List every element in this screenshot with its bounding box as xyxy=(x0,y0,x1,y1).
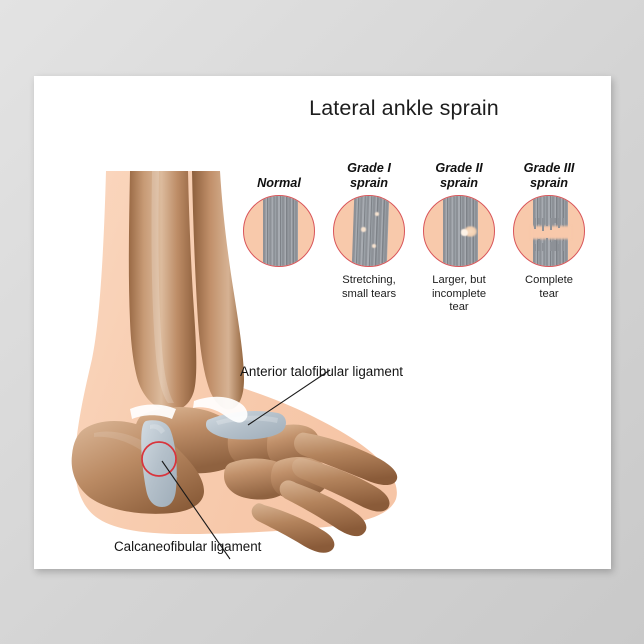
page-title: Lateral ankle sprain xyxy=(204,96,604,121)
grade-heading-grade-3: Grade III sprain xyxy=(504,158,594,190)
grade-column-grade-3: Grade III sprain xyxy=(504,158,594,301)
tibia-bone xyxy=(129,171,196,411)
label-calcaneofibular-ligament: Calcaneofibular ligament xyxy=(114,539,261,554)
caption-line2: tear xyxy=(504,288,594,302)
frayed-ends-lower xyxy=(533,238,568,250)
grade-heading-line1: Grade II xyxy=(435,161,482,176)
poster-sheet: Lateral ankle sprain Normal xyxy=(34,76,611,569)
partial-tear-highlight xyxy=(461,229,468,236)
ligament-diagram-grade-3 xyxy=(513,195,585,267)
grade-heading-line2: sprain xyxy=(530,176,568,191)
circle-grade-3 xyxy=(513,195,585,267)
label-anterior-talofibular-ligament: Anterior talofibular ligament xyxy=(240,364,403,379)
grade-heading-line2: sprain xyxy=(440,176,478,191)
poster-frame-background: Lateral ankle sprain Normal xyxy=(0,0,644,644)
grade-caption-grade-3: Complete tear xyxy=(504,274,594,301)
grade-heading-line1: Grade III xyxy=(524,161,575,176)
frayed-ends-upper xyxy=(533,218,568,230)
caption-line1: Complete xyxy=(504,274,594,288)
